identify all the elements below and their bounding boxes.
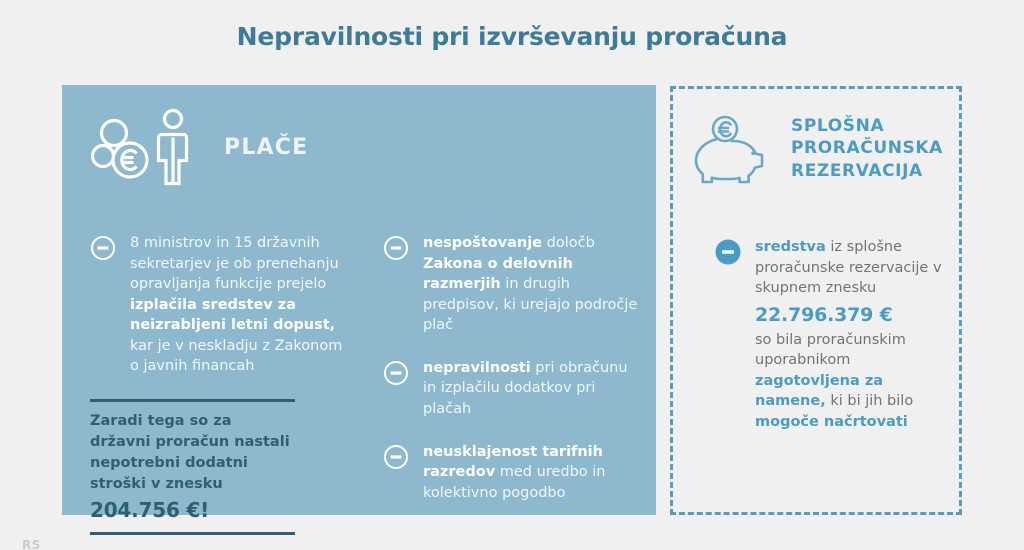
list-item: nespoštovanje določb Zakona o delovnih r… [383,233,638,336]
cost-callout-amount: 204.756 €! [90,498,295,522]
salaries-columns: 8 ministrov in 15 državnih sekretarjev j… [90,233,638,535]
reserve-text-before: sredstva iz splošne proračunske rezervac… [755,239,942,296]
minus-circle-outline-icon [90,235,116,261]
bullet-text: neusklajenost tarifnih razredov med ured… [423,442,638,504]
salaries-column-1: 8 ministrov in 15 državnih sekretarjev j… [90,233,345,535]
minus-circle-outline-icon [383,360,409,386]
budget-reserve-bullet: sredstva iz splošne proračunske rezervac… [715,237,947,433]
cost-callout-text: Zaradi tega so za državni proračun nasta… [90,411,295,495]
list-item: neusklajenost tarifnih razredov med ured… [383,442,638,504]
footer-mark: RS [22,538,41,550]
salaries-column-2: nespoštovanje določb Zakona o delovnih r… [383,233,638,535]
bullet-text: nepravilnosti pri obračunu in izplačilu … [423,358,638,420]
salaries-panel-header: PLAČE [90,107,308,187]
list-item: nepravilnosti pri obračunu in izplačilu … [383,358,638,420]
minus-circle-outline-icon [383,235,409,261]
infographic-page: Nepravilnosti pri izvrševanju proračuna … [0,0,1024,550]
salaries-panel: PLAČE 8 ministrov in 15 državnih sekreta… [62,85,656,515]
budget-reserve-panel: SPLOŠNA PRORAČUNSKA REZERVACIJA sredstva… [670,86,962,515]
list-item: 8 ministrov in 15 državnih sekretarjev j… [90,233,345,377]
minus-circle-filled-icon [715,239,741,265]
reserve-amount: 22.796.379 € [755,302,947,329]
salaries-panel-title: PLAČE [224,135,308,160]
reserve-text-after: so bila proračunskim uporabnikom zagotov… [755,332,913,430]
budget-reserve-title: SPLOŠNA PRORAČUNSKA REZERVACIJA [791,109,959,182]
budget-reserve-text: sredstva iz splošne proračunske rezervac… [755,237,947,433]
bullet-text: nespoštovanje določb Zakona o delovnih r… [423,233,638,336]
salary-coins-person-icon [90,107,198,187]
cost-callout: Zaradi tega so za državni proračun nasta… [90,399,295,535]
page-title: Nepravilnosti pri izvrševanju proračuna [0,22,1024,51]
budget-reserve-header: SPLOŠNA PRORAČUNSKA REZERVACIJA [691,109,959,191]
minus-circle-outline-icon [383,444,409,470]
piggy-bank-euro-icon [691,109,777,191]
bullet-text: 8 ministrov in 15 državnih sekretarjev j… [130,233,345,377]
